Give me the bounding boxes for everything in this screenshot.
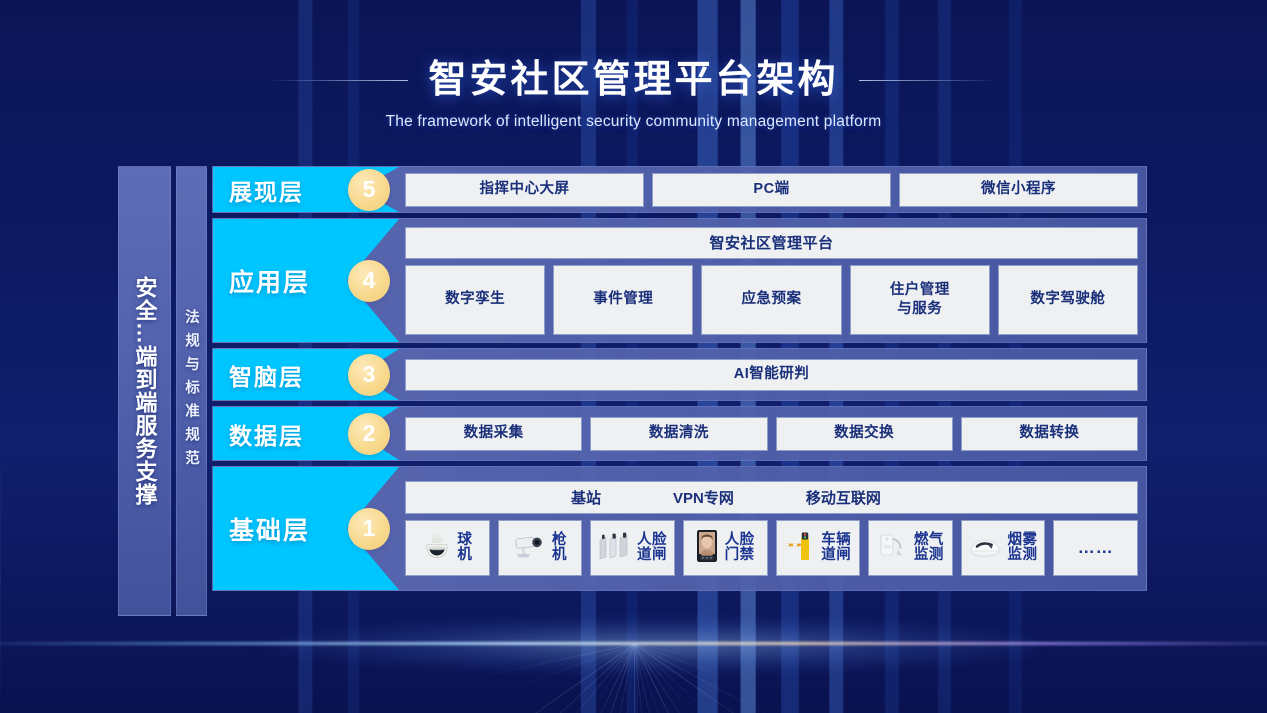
layer-row-application: 应用层 4 智安社区管理平台 数字孪生 事件管理 应急预案 住户管理与服务 数字… xyxy=(212,218,1147,343)
device-label: 枪机 xyxy=(551,533,567,564)
layer-content-infrastructure: 基站 VPN专网 移动互联网 球机枪机人脸道闸人脸门禁车辆道闸燃气监测烟雾监测…… xyxy=(399,467,1146,590)
list-item[interactable]: AI智能研判 xyxy=(405,359,1138,391)
smoke-detector-icon xyxy=(968,532,1002,565)
device-card[interactable]: …… xyxy=(1053,520,1138,576)
layer-content-presentation: 指挥中心大屏 PC端 微信小程序 xyxy=(399,167,1146,212)
device-label: 球机 xyxy=(457,533,473,564)
list-item[interactable]: 数字孪生 xyxy=(405,265,545,335)
device-label: 燃气监测 xyxy=(913,533,945,564)
network-label: 移动互联网 xyxy=(806,487,881,508)
device-card[interactable]: 球机 xyxy=(405,520,490,576)
sidebar-support-bar: 安全…端到端服务支撑 xyxy=(118,166,171,616)
layer-badge-4: 4 xyxy=(348,260,390,302)
layer-row-brain: 智脑层 3 AI智能研判 xyxy=(212,348,1147,401)
sidebar-standards-bar: 法规与标准规范 xyxy=(176,166,207,616)
network-label: 基站 xyxy=(571,487,601,508)
device-card[interactable]: 人脸道闸 xyxy=(590,520,675,576)
face-access-panel-icon xyxy=(695,529,719,568)
list-item[interactable]: 数据清洗 xyxy=(590,417,767,451)
layer-badge-3: 3 xyxy=(348,354,390,396)
bullet-camera-icon xyxy=(512,531,546,566)
presentation-item-list: 指挥中心大屏 PC端 微信小程序 xyxy=(405,173,1138,207)
layer-name-infrastructure: 基础层 xyxy=(229,511,310,547)
network-label: VPN专网 xyxy=(673,487,734,508)
ellipsis-icon: …… xyxy=(1078,539,1114,557)
layer-row-data: 数据层 2 数据采集 数据清洗 数据交换 数据转换 xyxy=(212,406,1147,461)
gas-detector-icon xyxy=(876,530,908,567)
list-item[interactable]: 应急预案 xyxy=(701,265,841,335)
device-card[interactable]: 烟雾监测 xyxy=(961,520,1046,576)
network-bar[interactable]: 基站 VPN专网 移动互联网 xyxy=(405,481,1138,514)
slide-canvas: 智安社区管理平台架构 The framework of intelligent … xyxy=(0,0,1267,713)
list-item[interactable]: 数据交换 xyxy=(776,417,953,451)
device-label: 人脸道闸 xyxy=(636,533,668,564)
vehicle-barrier-icon xyxy=(783,530,815,567)
layer-badge-5: 5 xyxy=(348,169,390,211)
title-block: 智安社区管理平台架构 The framework of intelligent … xyxy=(0,60,1267,131)
device-label: 车辆道闸 xyxy=(820,533,852,564)
list-item[interactable]: 数据采集 xyxy=(405,417,582,451)
architecture-diagram: 安全…端到端服务支撑 法规与标准规范 展现层 5 指挥中心大屏 PC端 微信小程… xyxy=(118,166,1147,616)
device-label: 人脸门禁 xyxy=(724,533,756,564)
layer-name-data: 数据层 xyxy=(229,417,304,451)
list-item[interactable]: 指挥中心大屏 xyxy=(405,173,644,207)
list-item[interactable]: 数字驾驶舱 xyxy=(998,265,1138,335)
page-title: 智安社区管理平台架构 xyxy=(428,60,838,102)
layer-row-infrastructure: 基础层 1 基站 VPN专网 移动互联网 球机枪机人脸道闸人脸门禁车辆道闸燃气监… xyxy=(212,466,1147,591)
device-label: 烟雾监测 xyxy=(1007,533,1039,564)
layer-badge-1: 1 xyxy=(348,508,390,550)
title-rule-right xyxy=(859,80,999,81)
device-list: 球机枪机人脸道闸人脸门禁车辆道闸燃气监测烟雾监测…… xyxy=(405,520,1138,576)
list-item[interactable]: 数据转换 xyxy=(961,417,1138,451)
list-item[interactable]: 住户管理与服务 xyxy=(850,265,990,335)
background-horizon-glow xyxy=(253,616,1039,674)
dome-camera-icon xyxy=(422,531,452,566)
device-card[interactable]: 枪机 xyxy=(498,520,583,576)
layer-content-data: 数据采集 数据清洗 数据交换 数据转换 xyxy=(399,407,1146,460)
layer-name-brain: 智脑层 xyxy=(229,358,304,392)
face-turnstile-icon xyxy=(597,530,631,567)
layer-name-application: 应用层 xyxy=(229,263,310,299)
sidebar-support-label: 安全…端到端服务支撑 xyxy=(129,276,161,506)
layer-rows: 展现层 5 指挥中心大屏 PC端 微信小程序 应用层 4 智 xyxy=(212,166,1147,616)
sidebar-standards-label: 法规与标准规范 xyxy=(181,309,202,474)
background-horizon-line xyxy=(0,642,1267,645)
list-item[interactable]: 微信小程序 xyxy=(899,173,1138,207)
application-item-list: 数字孪生 事件管理 应急预案 住户管理与服务 数字驾驶舱 xyxy=(405,265,1138,335)
layer-row-presentation: 展现层 5 指挥中心大屏 PC端 微信小程序 xyxy=(212,166,1147,213)
device-card[interactable]: 车辆道闸 xyxy=(776,520,861,576)
list-item[interactable]: 事件管理 xyxy=(553,265,693,335)
layer-content-brain: AI智能研判 xyxy=(399,349,1146,400)
page-subtitle: The framework of intelligent security co… xyxy=(0,113,1267,131)
application-platform-banner[interactable]: 智安社区管理平台 xyxy=(405,227,1138,259)
layer-badge-2: 2 xyxy=(348,413,390,455)
layer-name-presentation: 展现层 xyxy=(229,173,304,207)
data-item-list: 数据采集 数据清洗 数据交换 数据转换 xyxy=(405,417,1138,451)
device-card[interactable]: 人脸门禁 xyxy=(683,520,768,576)
list-item[interactable]: PC端 xyxy=(652,173,891,207)
title-rule-left xyxy=(268,80,408,81)
brain-item-list: AI智能研判 xyxy=(405,359,1138,391)
device-card[interactable]: 燃气监测 xyxy=(868,520,953,576)
layer-content-application: 智安社区管理平台 数字孪生 事件管理 应急预案 住户管理与服务 数字驾驶舱 xyxy=(399,219,1146,342)
